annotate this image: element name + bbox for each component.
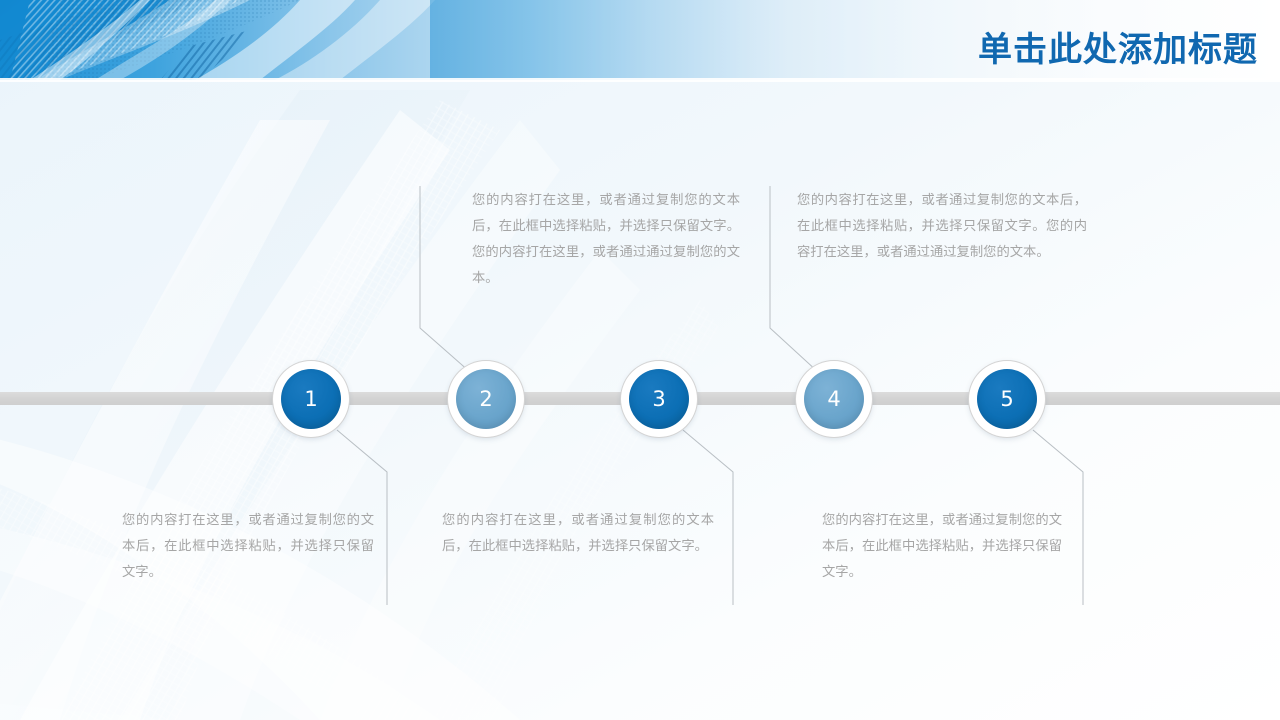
wave-shapes (0, 90, 720, 720)
connector-node-2 (420, 186, 470, 372)
timeline-node-3[interactable]: 3 (621, 361, 697, 437)
slide-canvas: 单击此处添加标题 1 2 3 4 (0, 0, 1280, 720)
timeline-node-1[interactable]: 1 (273, 361, 349, 437)
content-block-bottom-5: 您的内容打在这里，或者通过复制您的文本后，在此框中选择粘贴，并选择只保留文字。 (822, 508, 1062, 586)
timeline-node-1-disc: 1 (281, 369, 341, 429)
timeline-node-1-number: 1 (304, 389, 317, 410)
content-block-bottom-3: 您的内容打在这里，或者通过复制您的文本后，在此框中选择粘贴，并选择只保留文字。 (442, 508, 714, 560)
background-decoration (0, 0, 1280, 720)
timeline-node-5-number: 5 (1000, 389, 1013, 410)
content-block-top-2: 您的内容打在这里，或者通过复制您的文本后，在此框中选择粘贴，并选择只保留文字。您… (472, 188, 740, 292)
timeline-node-2-number: 2 (479, 389, 492, 410)
timeline-node-5[interactable]: 5 (969, 361, 1045, 437)
background-graphic (0, 0, 1280, 720)
timeline-node-5-disc: 5 (977, 369, 1037, 429)
timeline-node-4-number: 4 (827, 389, 840, 410)
connector-lines (0, 0, 1280, 720)
timeline-node-3-disc: 3 (629, 369, 689, 429)
timeline-node-4[interactable]: 4 (796, 361, 872, 437)
content-block-bottom-1: 您的内容打在这里，或者通过复制您的文本后，在此框中选择粘贴，并选择只保留文字。 (122, 508, 374, 586)
timeline-node-3-number: 3 (652, 389, 665, 410)
timeline-node-2[interactable]: 2 (448, 361, 524, 437)
timeline-node-4-disc: 4 (804, 369, 864, 429)
timeline-node-2-disc: 2 (456, 369, 516, 429)
page-title: 单击此处添加标题 (978, 22, 1258, 71)
content-block-top-4: 您的内容打在这里，或者通过复制您的文本后，在此框中选择粘贴，并选择只保留文字。您… (797, 188, 1087, 266)
